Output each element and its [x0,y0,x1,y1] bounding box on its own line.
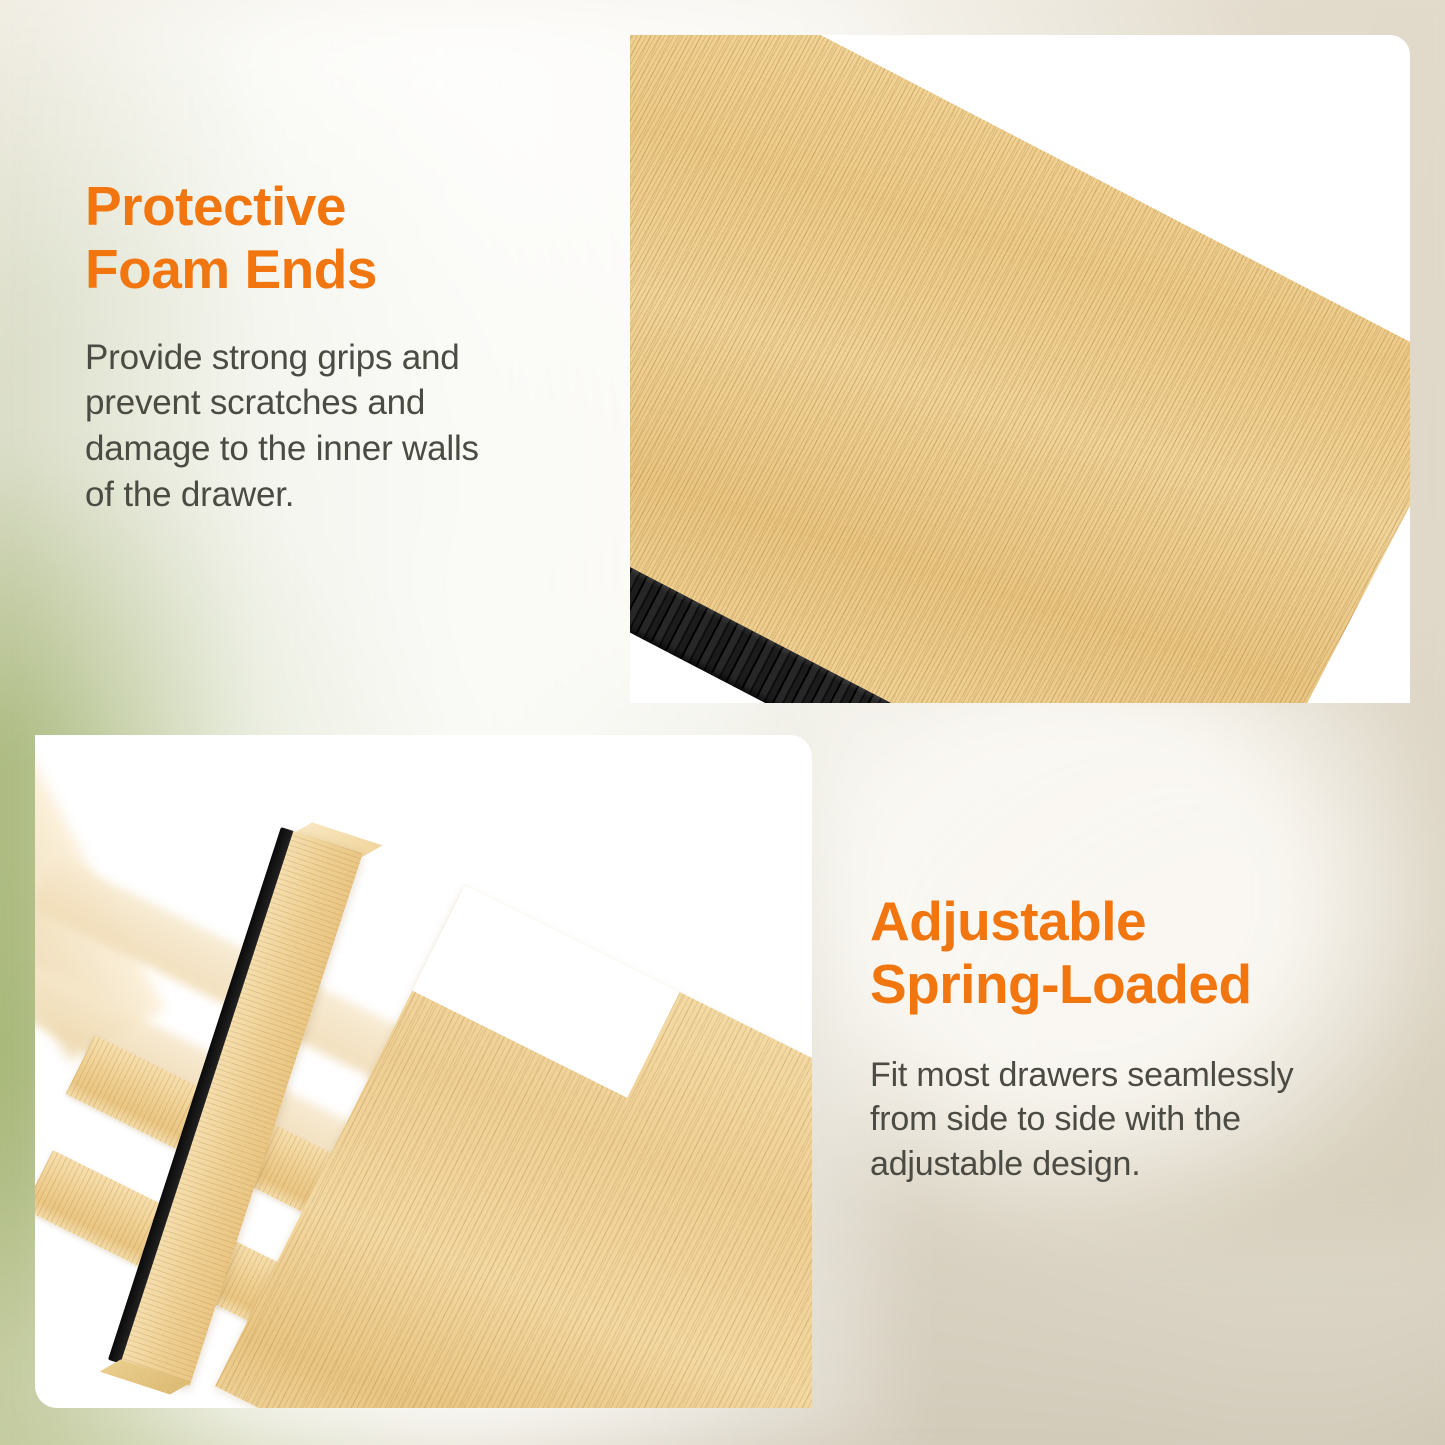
feature-image-card-foam-ends [630,35,1410,703]
feature-body-adjustable: Fit most drawers seamlessly from side to… [870,1053,1410,1187]
feature-text-adjustable: Adjustable Spring-Loaded Fit most drawer… [870,890,1410,1186]
feature-image-card-adjustable [35,735,812,1408]
bamboo-board-photo [630,35,1410,703]
feature-text-foam-ends: Protective Foam Ends Provide strong grip… [85,175,615,518]
infographic-canvas: Protective Foam Ends Provide strong grip… [0,0,1445,1445]
bamboo-board-top-surface [630,35,1410,703]
content-frame: Protective Foam Ends Provide strong grip… [35,35,1410,1408]
feature-headline-adjustable: Adjustable Spring-Loaded [870,890,1410,1017]
feature-headline-foam-ends: Protective Foam Ends [85,175,615,302]
drawer-divider-photo [35,735,812,1408]
bamboo-board [630,35,1410,703]
feature-body-foam-ends: Provide strong grips and prevent scratch… [85,335,615,518]
